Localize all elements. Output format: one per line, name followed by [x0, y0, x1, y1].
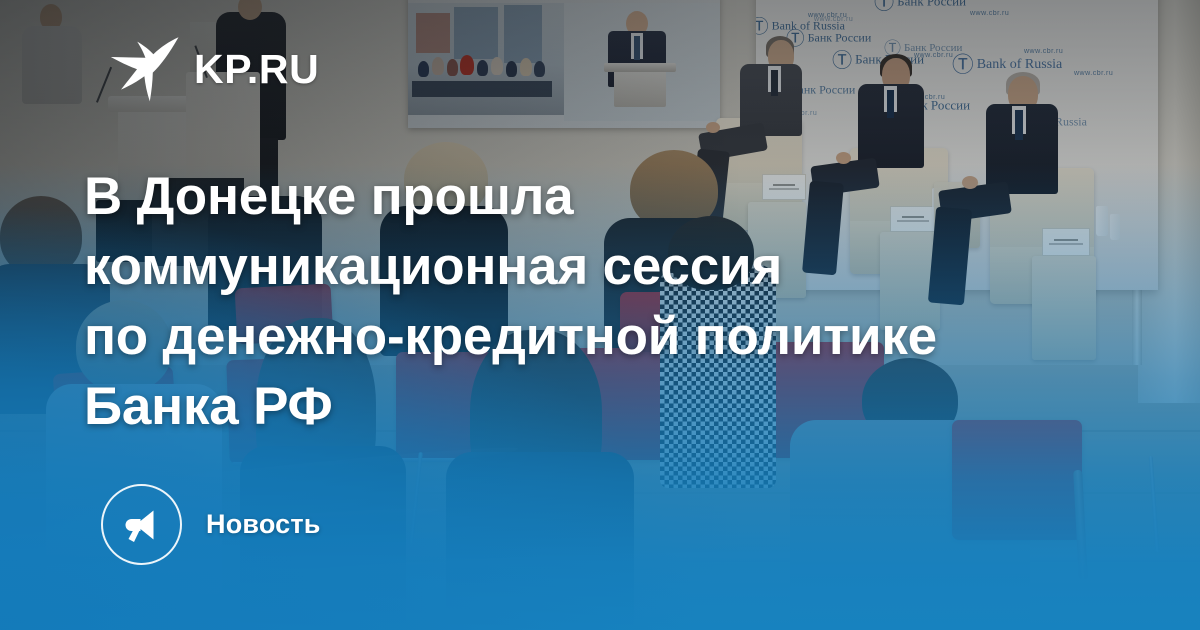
brand-logo[interactable]: KP.RU [108, 36, 319, 102]
headline-line: коммуникационная сессия [84, 232, 1084, 302]
headline-line: В Донецке прошла [84, 162, 1084, 232]
card-content: KP.RU В Донецке прошла коммуникационная … [0, 0, 1200, 630]
page-title: В Донецке прошла коммуникационная сессия… [84, 162, 1084, 442]
headline-line: Банка РФ [84, 372, 1084, 442]
megaphone-icon [122, 505, 162, 545]
status-badge[interactable]: Новость [101, 484, 321, 565]
swallow-bird-icon [108, 36, 180, 102]
badge-label: Новость [206, 509, 321, 540]
brand-name: KP.RU [194, 49, 319, 90]
badge-icon-circle [101, 484, 182, 565]
news-share-card: ⓉБанк России www.cbr.ru ⓉBank of Russia … [0, 0, 1200, 630]
headline-line: по денежно-кредитной политике [84, 302, 1084, 372]
